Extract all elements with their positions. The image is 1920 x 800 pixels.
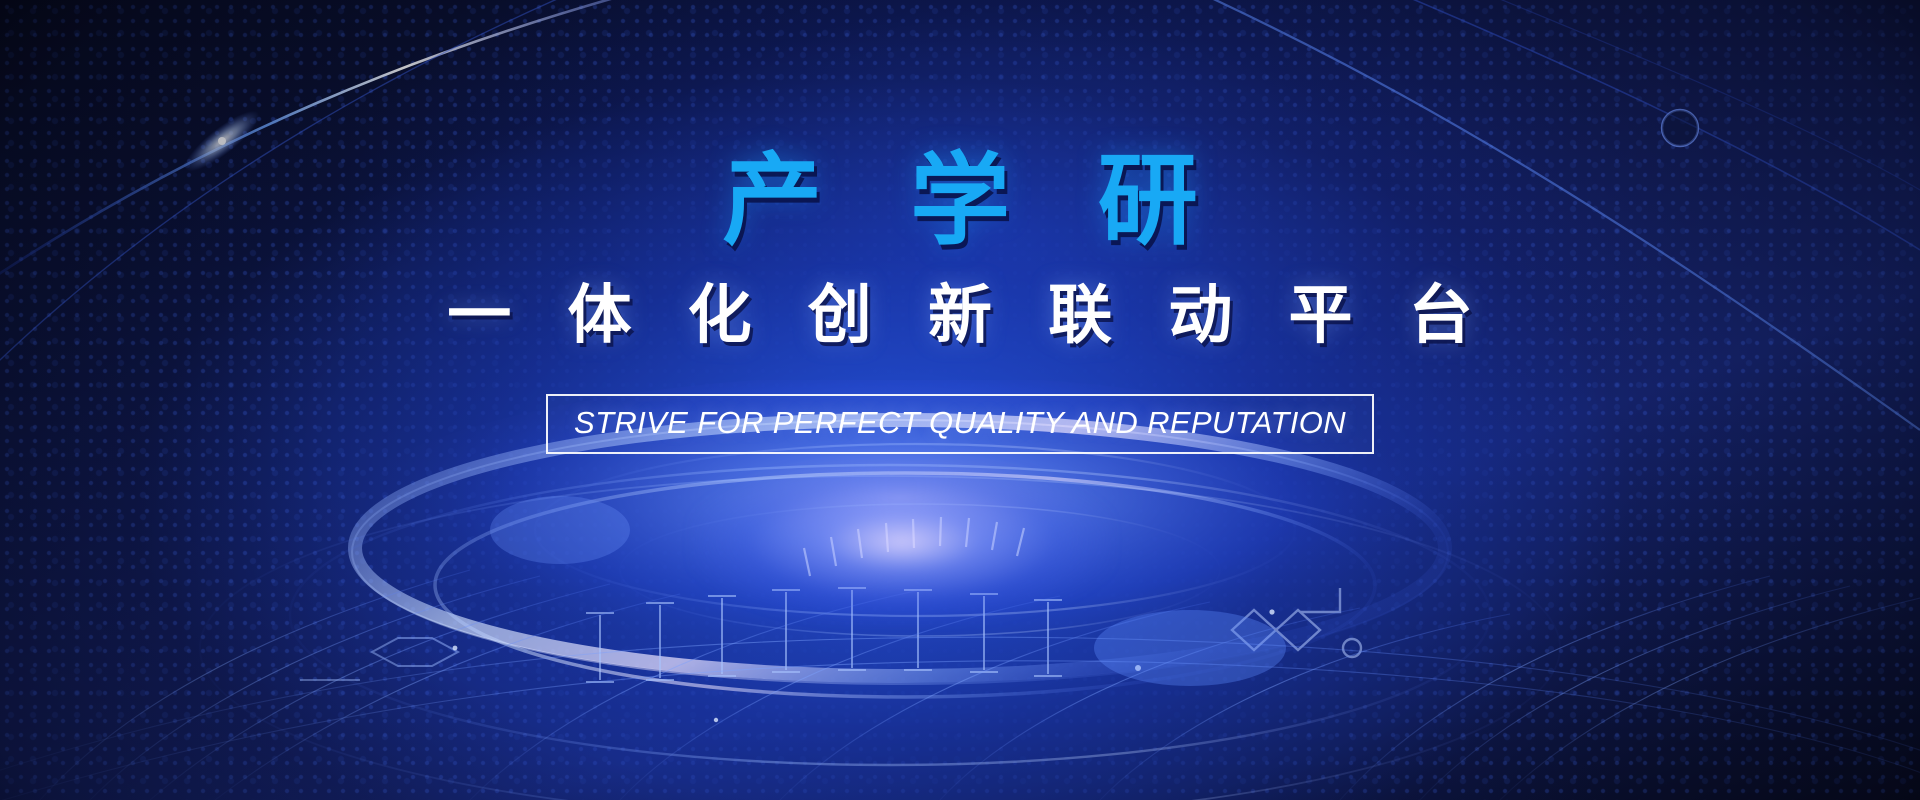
- page-subtitle: 一 体 化 创 新 联 动 平 台: [428, 280, 1492, 350]
- banner-content: 产 学 研 一 体 化 创 新 联 动 平 台 STRIVE FOR PERFE…: [0, 0, 1920, 800]
- promo-banner: 产 学 研 一 体 化 创 新 联 动 平 台 STRIVE FOR PERFE…: [0, 0, 1920, 800]
- slogan-box: STRIVE FOR PERFECT QUALITY AND REPUTATIO…: [546, 394, 1374, 454]
- page-title: 产 学 研: [692, 148, 1228, 254]
- slogan-text: STRIVE FOR PERFECT QUALITY AND REPUTATIO…: [574, 405, 1346, 441]
